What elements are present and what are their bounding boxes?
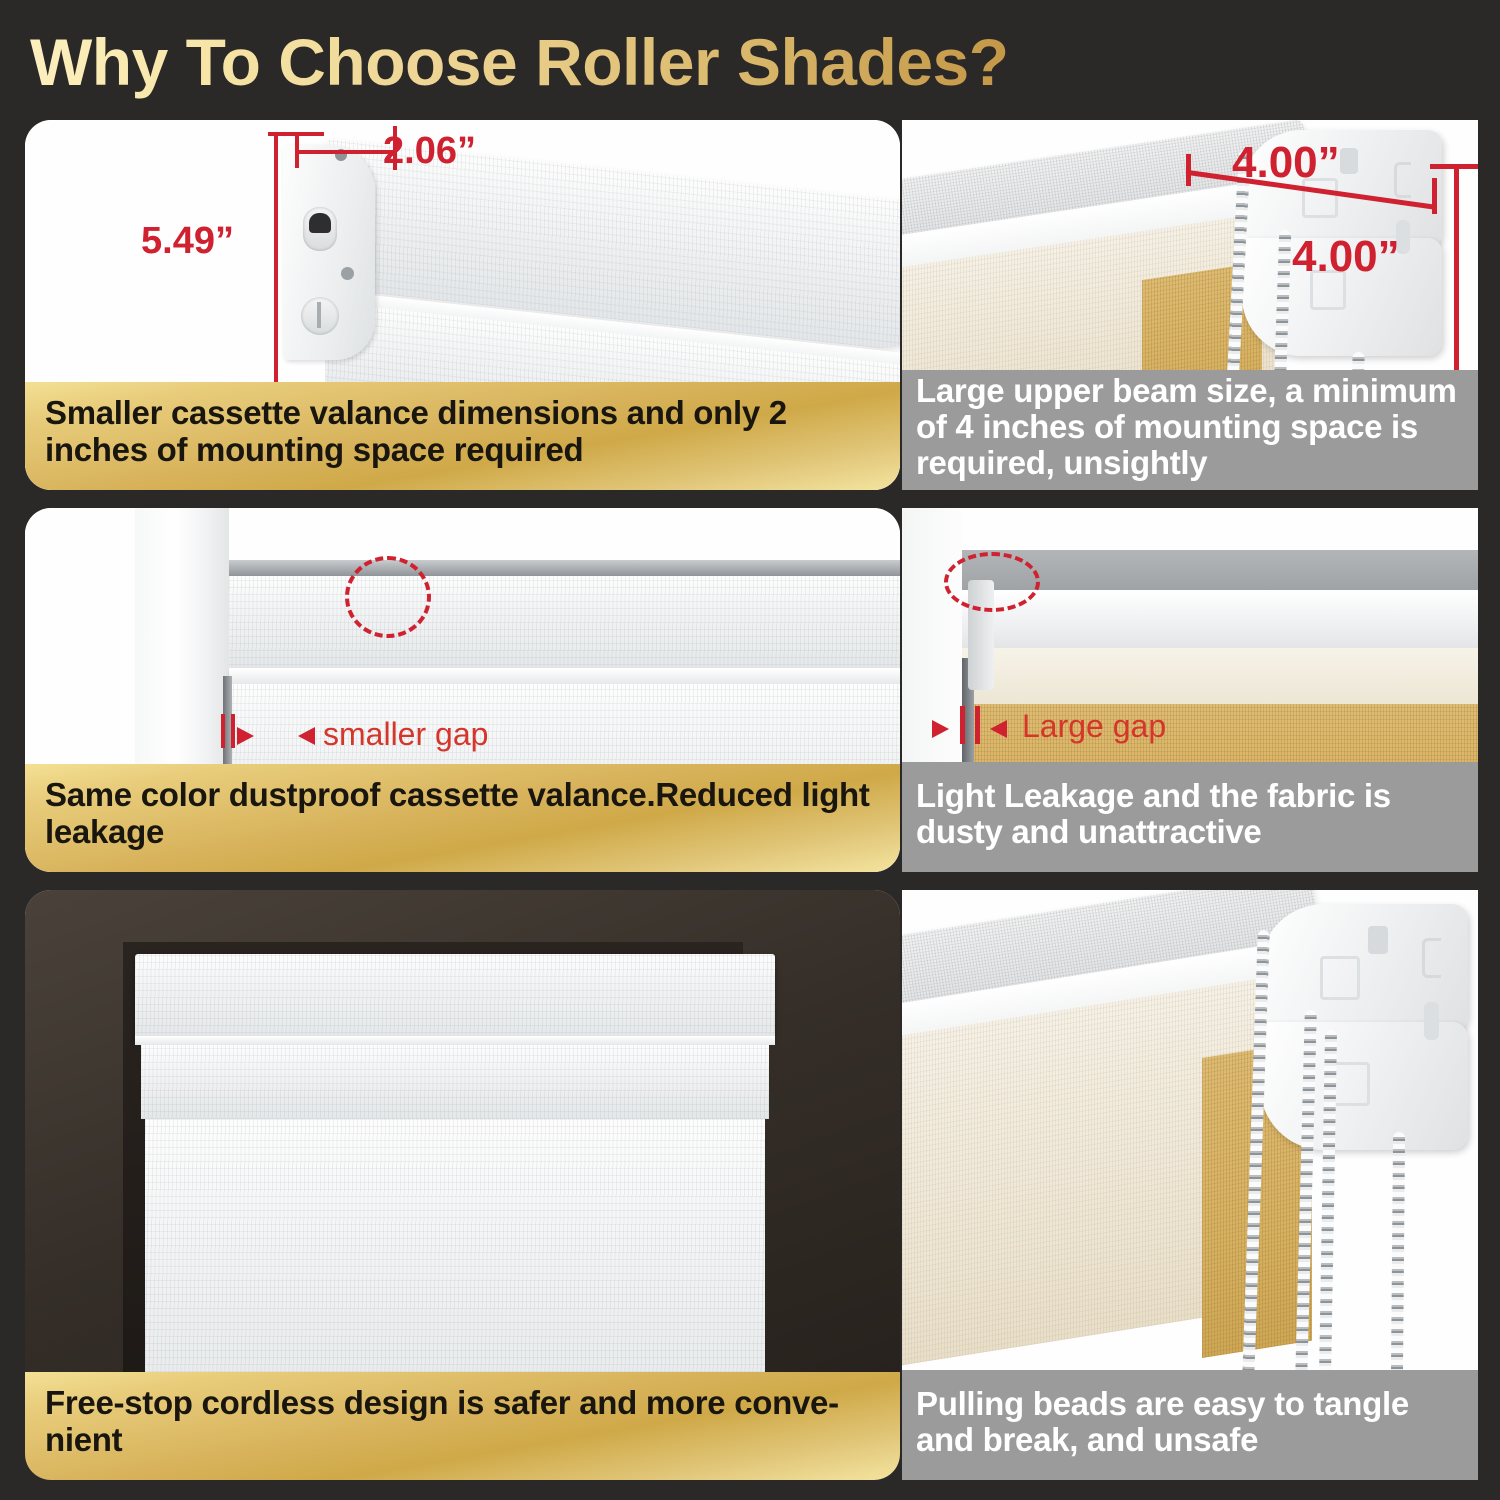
- dim-width-line: [297, 150, 397, 154]
- panel-5-caption-text: Free-stop cordless design is safer and m…: [45, 1385, 880, 1459]
- panel-4-caption-text: Light Leakage and the fabric is dusty an…: [916, 778, 1464, 851]
- panel-1-caption-text: Smaller cassette valance dimensions and …: [45, 395, 880, 469]
- dim-height-label: 5.49”: [141, 220, 234, 263]
- gap-label: Large gap: [1022, 708, 1166, 745]
- panel-2-caption-text: Large upper beam size, a minimum of 4 in…: [916, 373, 1464, 482]
- bracket-screw-icon: [301, 297, 339, 335]
- gap-label: smaller gap: [323, 716, 488, 753]
- panel-light-leakage: Large gap Light Leakage and the fabric i…: [902, 508, 1478, 872]
- dim-height-line: [1454, 164, 1459, 374]
- endcap-slot-2-icon: [1422, 938, 1441, 978]
- mounting-bracket: [283, 145, 375, 360]
- gap-tick-right: [231, 714, 235, 748]
- bracket-pin-mid-icon: [341, 267, 354, 280]
- highlight-circle: [944, 552, 1040, 612]
- panel-cordless-design: Free-stop cordless design is safer and m…: [25, 890, 900, 1480]
- panel-5-caption: Free-stop cordless design is safer and m…: [25, 1372, 900, 1480]
- panel-pulling-beads: Pulling beads are easy to tangle and bre…: [902, 890, 1478, 1480]
- endcap-slot-1-icon: [1340, 148, 1358, 174]
- valance-lip: [229, 668, 900, 684]
- panel-smaller-cassette: 2.06” 5.49” Smaller cassette valance dim…: [25, 120, 900, 490]
- panel-6-caption: Pulling beads are easy to tangle and bre…: [902, 1370, 1478, 1480]
- bracket-clutch-icon: [303, 207, 337, 251]
- endcap-emblem-upper-icon: [1320, 956, 1360, 1000]
- gap-tick-left: [221, 714, 225, 748]
- dim-width-cap-right: [1432, 178, 1437, 214]
- dim-width-cap-left: [1186, 154, 1191, 186]
- dim-height-cap-top: [1430, 164, 1478, 169]
- dim-height-cap-top: [268, 132, 324, 136]
- highlight-circle: [345, 556, 431, 638]
- page-title: Why To Choose Roller Shades?: [30, 22, 1130, 102]
- fabric-cream-band: [962, 648, 1478, 708]
- panel-3-caption: Same color dustproof cassette valance.Re…: [25, 764, 900, 872]
- dim-width-label: 2.06”: [383, 130, 476, 173]
- cassette-valance: [229, 576, 900, 672]
- roller-tube: [962, 590, 1478, 656]
- gap-arrow-right-icon: [990, 720, 1007, 738]
- gap-arrow-right-icon: [298, 727, 315, 745]
- endcap-slot-3-icon: [1424, 1002, 1439, 1040]
- valance-top-edge: [229, 560, 900, 576]
- bead-chain-4: [1391, 1132, 1405, 1380]
- gap-tick-left: [960, 706, 965, 744]
- panel-4-caption: Light Leakage and the fabric is dusty an…: [902, 762, 1478, 872]
- panel-1-caption: Smaller cassette valance dimensions and …: [25, 382, 900, 490]
- panel-2-caption: Large upper beam size, a minimum of 4 in…: [902, 370, 1478, 490]
- cassette-valance: [135, 954, 775, 1040]
- dim-height-label: 4.00”: [1292, 232, 1400, 282]
- valance-lip: [135, 1036, 775, 1045]
- gap-arrow-left-icon: [237, 727, 254, 745]
- endcap-slot-1-icon: [1368, 926, 1388, 954]
- gap-arrow-left-icon: [932, 720, 949, 738]
- panel-large-upper-beam: 4.00” 4.00” Large upper beam size, a min…: [902, 120, 1478, 490]
- panel-3-caption-text: Same color dustproof cassette valance.Re…: [45, 777, 880, 851]
- dim-width-label: 4.00”: [1232, 138, 1340, 188]
- gap-tick-right: [975, 706, 980, 744]
- dim-width-cap-left: [295, 136, 299, 168]
- panel-6-caption-text: Pulling beads are easy to tangle and bre…: [916, 1386, 1464, 1459]
- panel-dustproof-valance: smaller gap Same color dustproof cassett…: [25, 508, 900, 872]
- shade-fabric-upper: [141, 1045, 769, 1119]
- endcap-slot-2-icon: [1394, 162, 1411, 198]
